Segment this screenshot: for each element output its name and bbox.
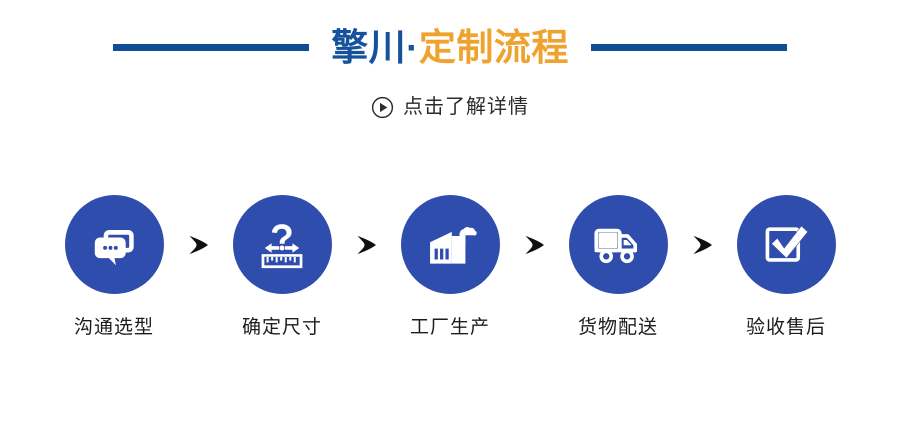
step-label: 沟通选型 xyxy=(74,318,154,337)
delivery-truck-icon xyxy=(589,216,647,274)
step-label: 工厂生产 xyxy=(410,318,490,337)
arrow-right-icon xyxy=(345,195,387,294)
arrow-right-icon xyxy=(177,195,219,294)
play-circle-icon[interactable] xyxy=(371,96,394,119)
process-steps: 沟通选型 xyxy=(0,195,900,365)
decorative-rule-right xyxy=(591,44,787,51)
step-item[interactable]: 确定尺寸 xyxy=(219,195,345,337)
arrow-right-icon xyxy=(513,195,555,294)
step-item[interactable]: 工厂生产 xyxy=(387,195,513,337)
ruler-measure-icon xyxy=(253,216,311,274)
step-icon-circle[interactable] xyxy=(401,195,500,294)
chat-bubbles-icon xyxy=(84,215,144,275)
decorative-rule-left xyxy=(113,44,309,51)
step-icon-circle[interactable] xyxy=(737,195,836,294)
factory-icon xyxy=(421,216,479,274)
step-label: 验收售后 xyxy=(746,318,826,337)
checkbox-check-icon xyxy=(757,216,815,274)
title-row: 擎川·定制流程 xyxy=(0,22,900,72)
page-header: 擎川·定制流程 点击了解详情 xyxy=(0,0,900,140)
step-label: 确定尺寸 xyxy=(242,318,322,337)
page-title-accent: 定制流程 xyxy=(419,29,569,66)
arrow-right-icon xyxy=(681,195,723,294)
step-item[interactable]: 沟通选型 xyxy=(51,195,177,337)
step-icon-circle[interactable] xyxy=(65,195,164,294)
page-title: 擎川·定制流程 xyxy=(331,29,569,66)
page-title-brand: 擎川· xyxy=(331,29,419,66)
step-icon-circle[interactable] xyxy=(569,195,668,294)
step-item[interactable]: 货物配送 xyxy=(555,195,681,337)
step-icon-circle[interactable] xyxy=(233,195,332,294)
subtitle-text: 点击了解详情 xyxy=(403,97,529,117)
step-label: 货物配送 xyxy=(578,318,658,337)
subtitle-row[interactable]: 点击了解详情 xyxy=(0,90,900,124)
step-item[interactable]: 验收售后 xyxy=(723,195,849,337)
